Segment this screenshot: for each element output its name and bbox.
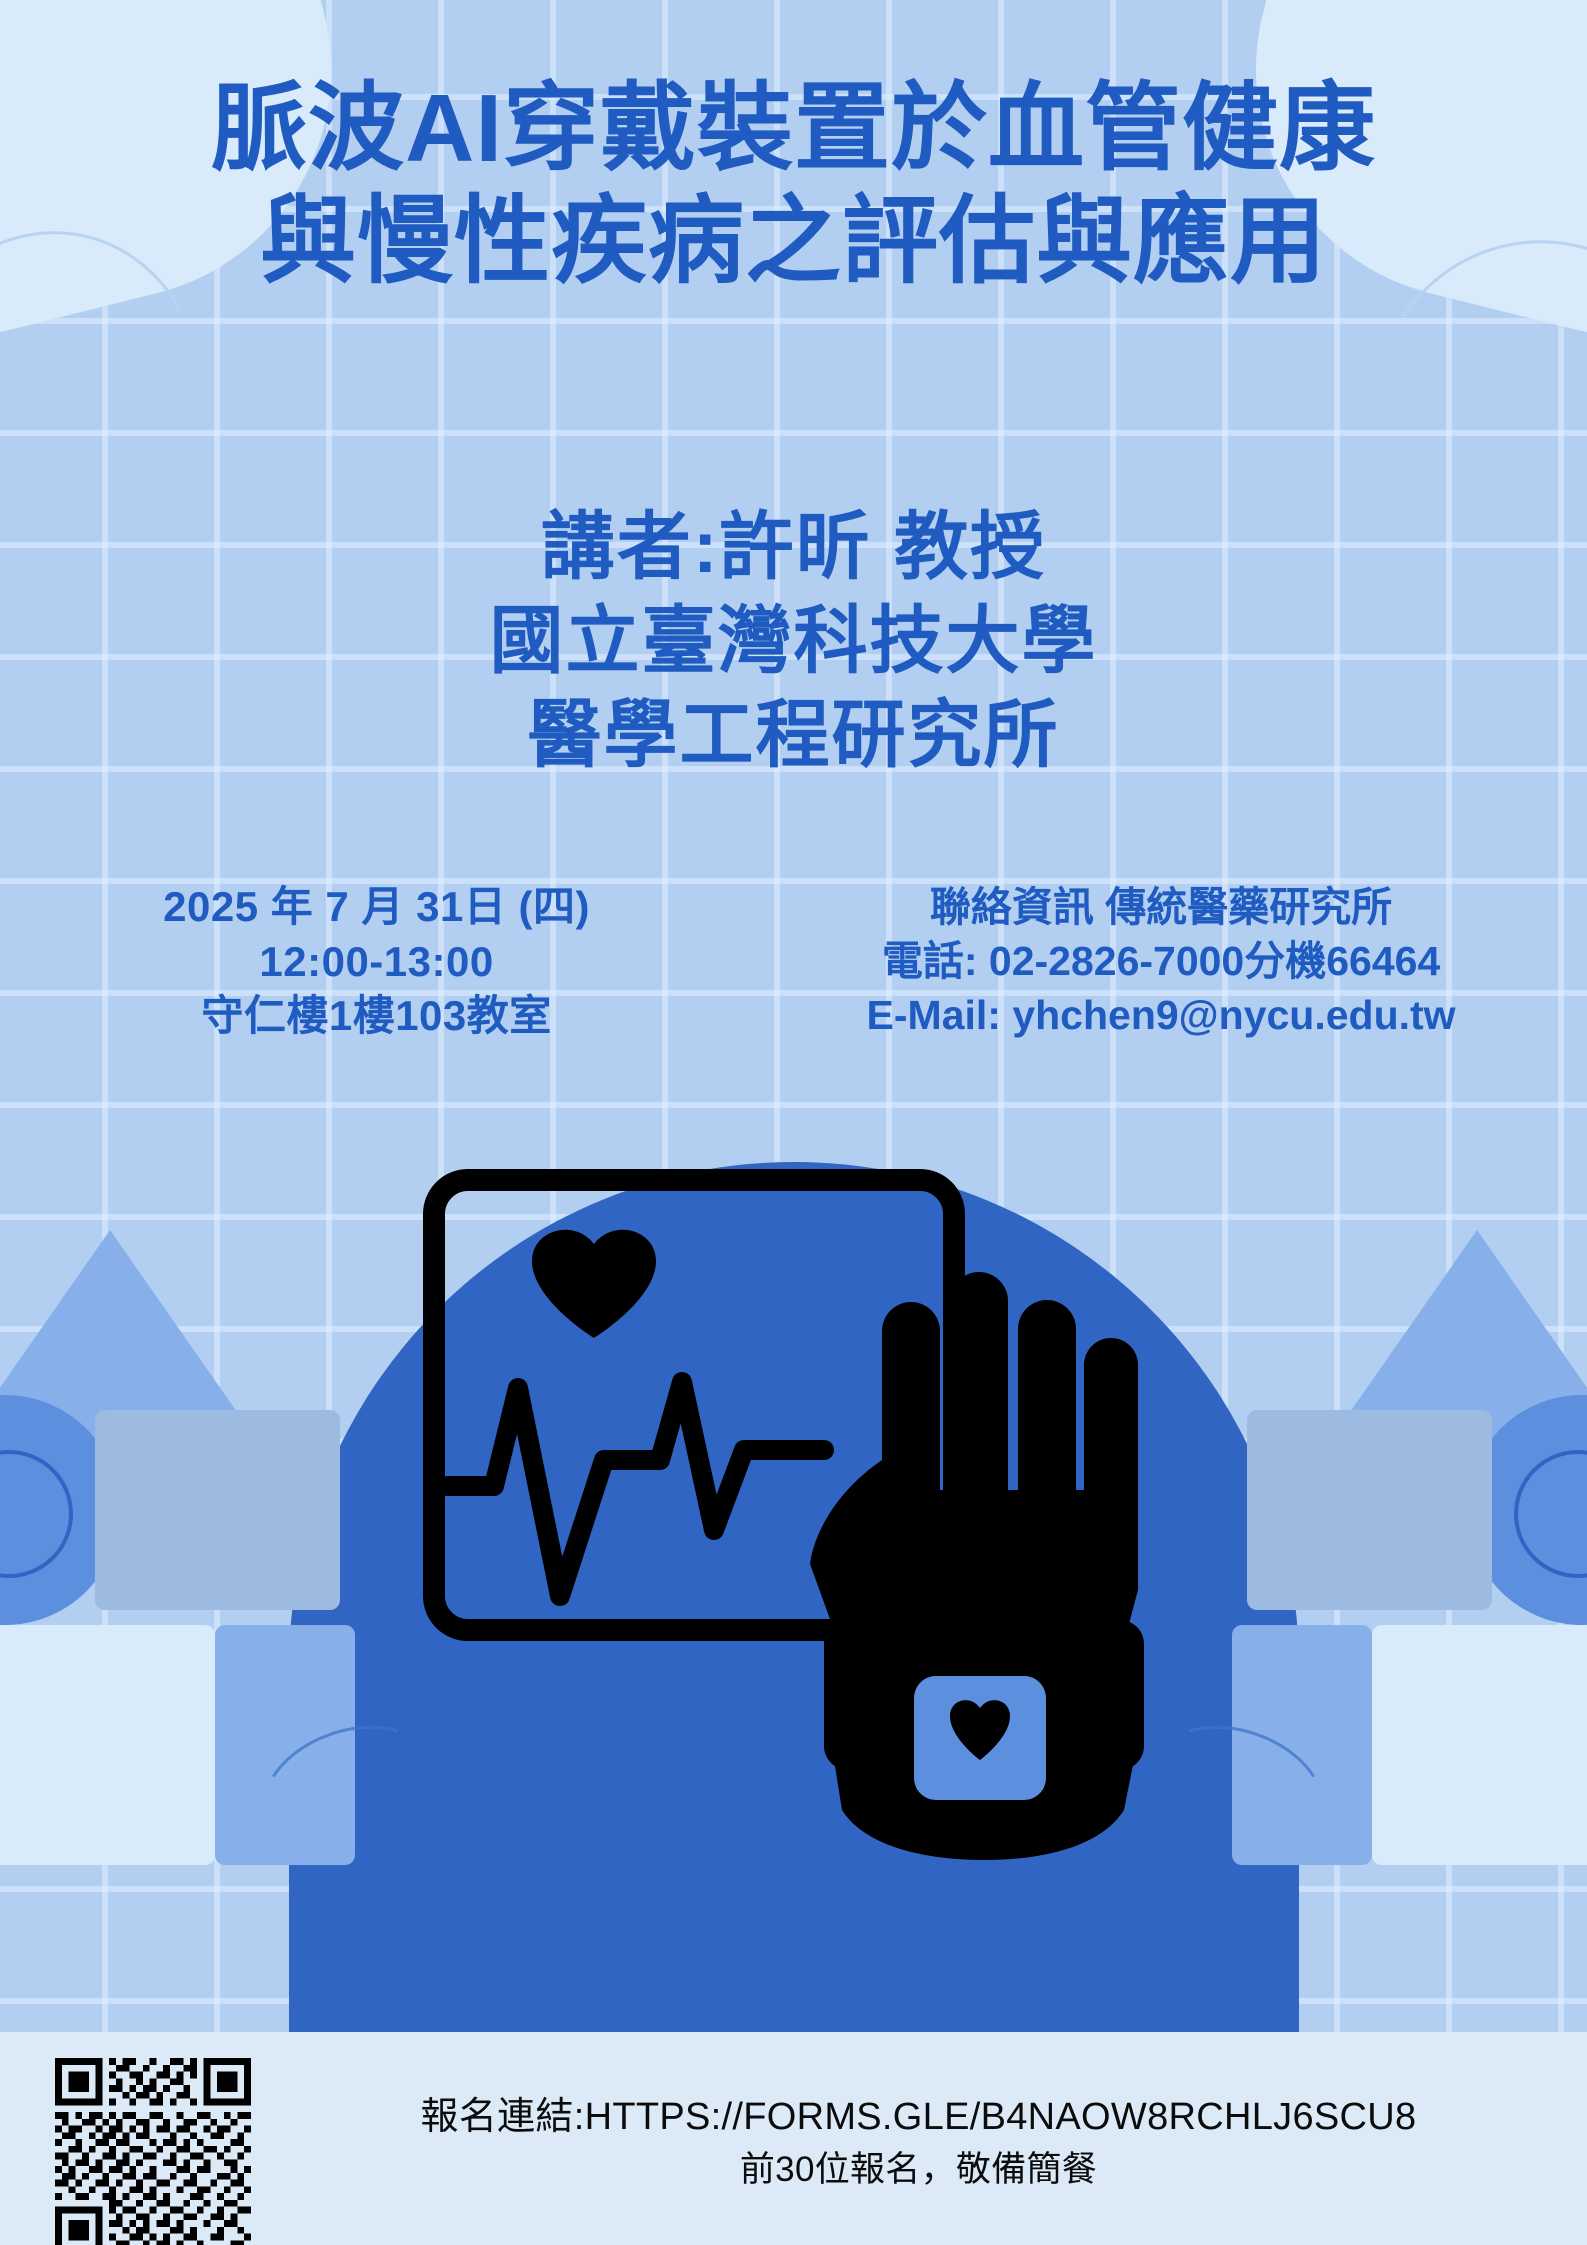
heart-icon (532, 1230, 656, 1338)
contact-phone: 電話: 02-2826-7000分機66464 (753, 934, 1569, 988)
contact-details: 聯絡資訊 傳統醫藥研究所 電話: 02-2826-7000分機66464 E-M… (753, 880, 1587, 1042)
title-line-1: 脈波AI穿戴裝置於血管健康 (211, 75, 1376, 182)
event-details: 2025 年 7 月 31日 (四) 12:00-13:00 守仁樓1樓103教… (0, 880, 753, 1044)
speaker-affiliation-2: 醫學工程研究所 (0, 688, 1587, 782)
registration-note: 前30位報名，敬備簡餐 (300, 2145, 1537, 2196)
square-lower-left (0, 1625, 215, 1865)
square-mid-left (95, 1410, 340, 1610)
square-lower-right (1372, 1625, 1587, 1865)
footer-band: 報名連結:HTTPS://FORMS.GLE/B4NAOW8RCHLJ6SCU8… (0, 2032, 1587, 2245)
contact-email: E-Mail: yhchen9@nycu.edu.tw (753, 988, 1569, 1042)
speaker-block: 講者:許昕 教授 國立臺灣科技大學 醫學工程研究所 (0, 500, 1587, 782)
qr-code-icon[interactable] (55, 2058, 251, 2245)
illustration-scene (0, 1140, 1587, 2032)
ecg-waveform-icon (448, 1382, 824, 1596)
poster-title: 脈波AI穿戴裝置於血管健康 與慢性疾病之評估與應用 (0, 72, 1587, 299)
info-row: 2025 年 7 月 31日 (四) 12:00-13:00 守仁樓1樓103教… (0, 880, 1587, 1044)
monitor-frame-icon (414, 1160, 1174, 1920)
speaker-name: 講者:許昕 教授 (0, 500, 1587, 594)
event-date: 2025 年 7 月 31日 (四) (0, 880, 753, 935)
poster-canvas: 脈波AI穿戴裝置於血管健康 與慢性疾病之評估與應用 講者:許昕 教授 國立臺灣科… (0, 0, 1587, 2245)
registration-text: 報名連結:HTTPS://FORMS.GLE/B4NAOW8RCHLJ6SCU8… (300, 2090, 1537, 2196)
title-line-2: 與慢性疾病之評估與應用 (0, 185, 1587, 298)
contact-heading: 聯絡資訊 傳統醫藥研究所 (753, 880, 1569, 934)
smartwatch-icon (914, 1676, 1046, 1800)
square-mid-right (1247, 1410, 1492, 1610)
event-venue: 守仁樓1樓103教室 (0, 989, 753, 1044)
registration-link[interactable]: 報名連結:HTTPS://FORMS.GLE/B4NAOW8RCHLJ6SCU8 (421, 2096, 1417, 2138)
speaker-affiliation-1: 國立臺灣科技大學 (0, 594, 1587, 688)
event-time: 12:00-13:00 (0, 935, 753, 990)
